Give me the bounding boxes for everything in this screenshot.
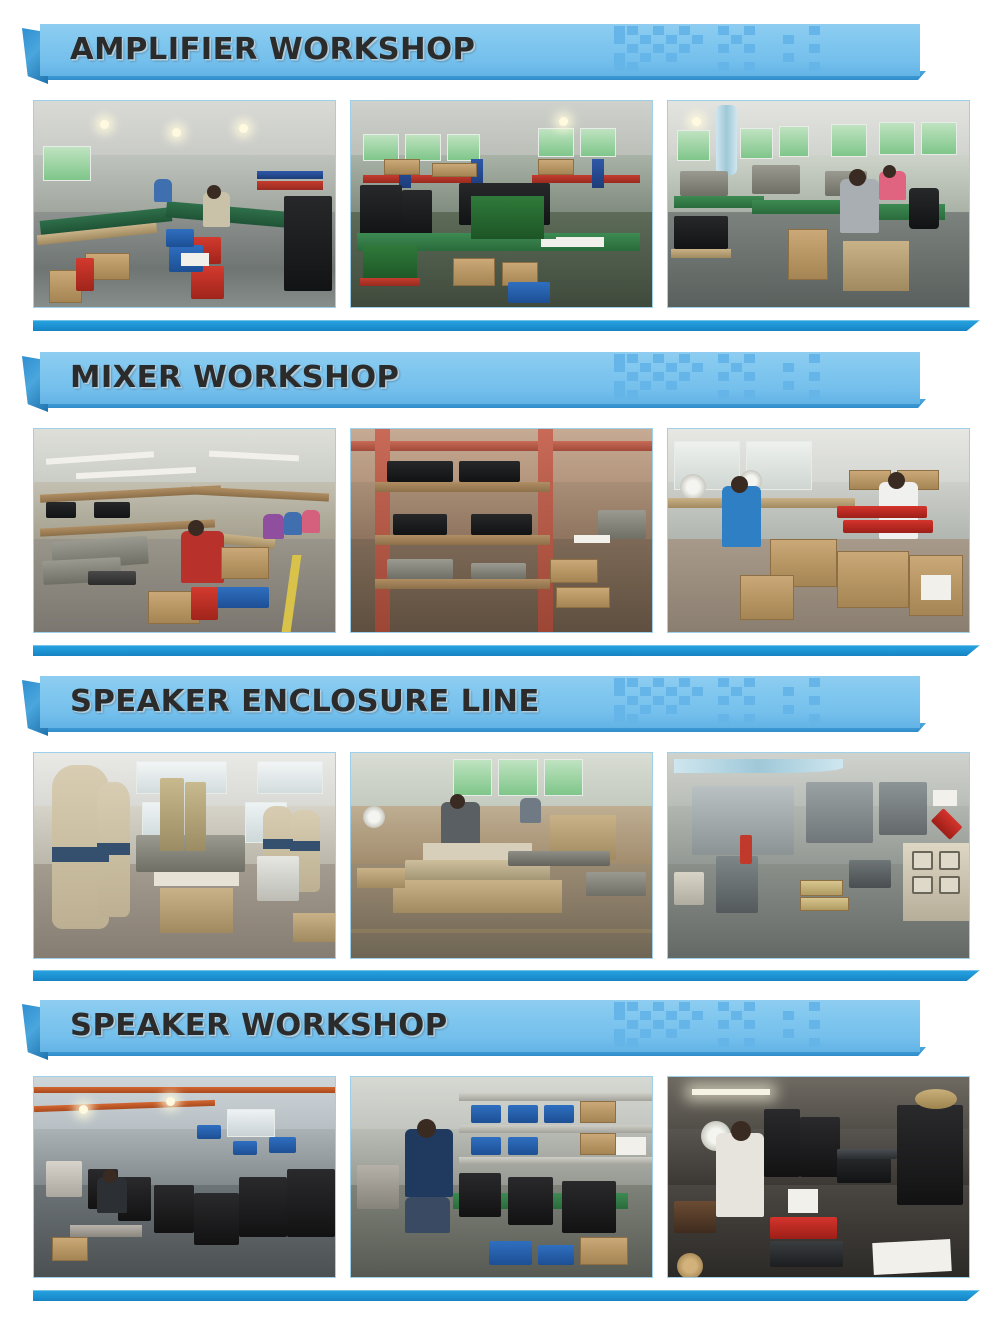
section-banner-speaker-enclosure: SPEAKER ENCLOSURE LINE <box>22 676 978 728</box>
checker-square <box>627 696 638 705</box>
checker-square <box>666 705 677 714</box>
checker-square <box>809 1020 820 1029</box>
checker-square <box>614 354 625 363</box>
photo-row-speaker <box>0 1076 1000 1278</box>
checker-square <box>666 1011 677 1020</box>
checker-square <box>627 62 638 71</box>
checker-square <box>653 1020 664 1029</box>
section-divider-speaker-enclosure <box>33 970 980 981</box>
checker-square <box>718 62 729 71</box>
checker-square <box>640 35 651 44</box>
checker-square <box>627 44 638 53</box>
section-title-amplifier: AMPLIFIER WORKSHOP <box>70 24 475 76</box>
checker-square <box>718 1020 729 1029</box>
checker-square <box>614 35 625 44</box>
checker-square <box>731 1011 742 1020</box>
photo-mixer-packing-station <box>667 428 970 633</box>
checker-square <box>640 1029 651 1038</box>
checkered-pixel-motif <box>614 1002 834 1054</box>
checker-square <box>640 381 651 390</box>
checker-square <box>809 1002 820 1011</box>
checkered-pixel-motif <box>614 26 834 78</box>
checker-square <box>783 1029 794 1038</box>
checker-square <box>640 705 651 714</box>
checker-square <box>679 1002 690 1011</box>
checker-square <box>679 26 690 35</box>
checker-square <box>718 714 729 723</box>
checker-square <box>666 687 677 696</box>
checker-square <box>653 26 664 35</box>
checker-square <box>744 62 755 71</box>
checker-square <box>783 1011 794 1020</box>
checker-square <box>666 1029 677 1038</box>
checker-square <box>809 1038 820 1047</box>
checker-square <box>627 1002 638 1011</box>
checker-square <box>614 381 625 390</box>
checker-square <box>692 35 703 44</box>
checker-square <box>809 696 820 705</box>
photo-row-amplifier <box>0 100 1000 308</box>
photo-row-mixer <box>0 428 1000 633</box>
checker-square <box>627 390 638 399</box>
checker-square <box>809 62 820 71</box>
checker-square <box>614 1029 625 1038</box>
checker-square <box>809 714 820 723</box>
checker-square <box>809 26 820 35</box>
checker-square <box>744 354 755 363</box>
checker-square <box>627 678 638 687</box>
photo-speaker-audio-testing-room <box>667 1076 970 1278</box>
checker-square <box>718 1038 729 1047</box>
checker-square <box>744 26 755 35</box>
checker-square <box>614 26 625 35</box>
checker-square <box>653 696 664 705</box>
checker-square <box>614 687 625 696</box>
checker-square <box>666 363 677 372</box>
photo-row-speaker-enclosure <box>0 752 1000 959</box>
section-title-speaker-enclosure: SPEAKER ENCLOSURE LINE <box>70 676 540 728</box>
photo-cnc-router-and-dust-collectors <box>33 752 336 959</box>
checker-square <box>718 26 729 35</box>
checker-square <box>731 35 742 44</box>
checker-square <box>692 1011 703 1020</box>
checker-square <box>640 1011 651 1020</box>
checker-square <box>744 696 755 705</box>
checker-square <box>627 1020 638 1029</box>
checker-square <box>718 390 729 399</box>
checker-square <box>679 372 690 381</box>
checker-square <box>666 35 677 44</box>
checker-square <box>809 678 820 687</box>
checker-square <box>614 714 625 723</box>
checker-square <box>640 687 651 696</box>
checker-square <box>718 696 729 705</box>
checker-square <box>627 714 638 723</box>
checker-square <box>679 696 690 705</box>
checker-square <box>731 687 742 696</box>
checker-square <box>744 390 755 399</box>
checker-square <box>783 35 794 44</box>
checker-square <box>809 354 820 363</box>
checker-square <box>627 26 638 35</box>
checker-square <box>718 372 729 381</box>
checker-square <box>692 363 703 372</box>
checker-square <box>679 678 690 687</box>
checker-square <box>653 372 664 381</box>
photo-amplifier-assembly-line <box>33 100 336 308</box>
checkered-pixel-motif <box>614 678 834 730</box>
checker-square <box>744 1038 755 1047</box>
section-amplifier: AMPLIFIER WORKSHOP <box>0 24 1000 76</box>
checker-square <box>692 687 703 696</box>
checker-square <box>614 1038 625 1047</box>
checker-square <box>809 44 820 53</box>
checker-square <box>614 1011 625 1020</box>
checker-square <box>783 363 794 372</box>
checker-square <box>718 678 729 687</box>
photo-speaker-cabinet-assembly-line <box>33 1076 336 1278</box>
section-title-speaker: SPEAKER WORKSHOP <box>70 1000 448 1052</box>
checker-square <box>653 44 664 53</box>
section-banner-mixer: MIXER WORKSHOP <box>22 352 978 404</box>
checker-square <box>783 381 794 390</box>
checker-square <box>783 53 794 62</box>
checker-square <box>653 1002 664 1011</box>
checker-square <box>627 372 638 381</box>
section-banner-speaker: SPEAKER WORKSHOP <box>22 1000 978 1052</box>
checker-square <box>614 363 625 372</box>
checker-square <box>718 1002 729 1011</box>
checker-square <box>744 1002 755 1011</box>
checker-square <box>679 44 690 53</box>
section-divider-amplifier <box>33 320 980 331</box>
section-speaker-enclosure: SPEAKER ENCLOSURE LINE <box>0 676 1000 728</box>
section-title-mixer: MIXER WORKSHOP <box>70 352 399 404</box>
checker-square <box>627 354 638 363</box>
checker-square <box>614 53 625 62</box>
checker-square <box>718 44 729 53</box>
photo-speaker-driver-mounting-station <box>350 1076 653 1278</box>
checker-square <box>744 714 755 723</box>
checker-square <box>640 363 651 372</box>
checker-square <box>666 381 677 390</box>
checker-square <box>653 678 664 687</box>
photo-enclosure-assembly-and-paint-area <box>667 752 970 959</box>
checker-square <box>718 354 729 363</box>
checker-square <box>783 705 794 714</box>
photo-amplifier-pcb-testing-bench <box>350 100 653 308</box>
catalog-page: AMPLIFIER WORKSHOP <box>0 0 1000 1333</box>
checker-square <box>809 372 820 381</box>
checker-square <box>679 1020 690 1029</box>
checker-square <box>627 1038 638 1047</box>
checker-square <box>744 678 755 687</box>
checker-square <box>614 1002 625 1011</box>
checkered-pixel-motif <box>614 354 834 406</box>
photo-mixer-storage-racking <box>350 428 653 633</box>
checker-square <box>744 1020 755 1029</box>
section-divider-mixer <box>33 645 980 656</box>
section-speaker: SPEAKER WORKSHOP <box>0 1000 1000 1052</box>
checker-square <box>614 390 625 399</box>
section-mixer: MIXER WORKSHOP <box>0 352 1000 404</box>
checker-square <box>744 44 755 53</box>
checker-square <box>666 53 677 62</box>
checker-square <box>679 354 690 363</box>
checker-square <box>744 372 755 381</box>
checker-square <box>614 678 625 687</box>
section-banner-amplifier: AMPLIFIER WORKSHOP <box>22 24 978 76</box>
checker-square <box>614 705 625 714</box>
checker-square <box>653 354 664 363</box>
section-divider-speaker <box>33 1290 980 1301</box>
checker-square <box>614 62 625 71</box>
photo-panel-saw-cutting-station <box>350 752 653 959</box>
checker-square <box>731 363 742 372</box>
photo-amplifier-transformer-winding-station <box>667 100 970 308</box>
checker-square <box>809 390 820 399</box>
checker-square <box>783 687 794 696</box>
photo-mixer-assembly-line <box>33 428 336 633</box>
checker-square <box>640 53 651 62</box>
